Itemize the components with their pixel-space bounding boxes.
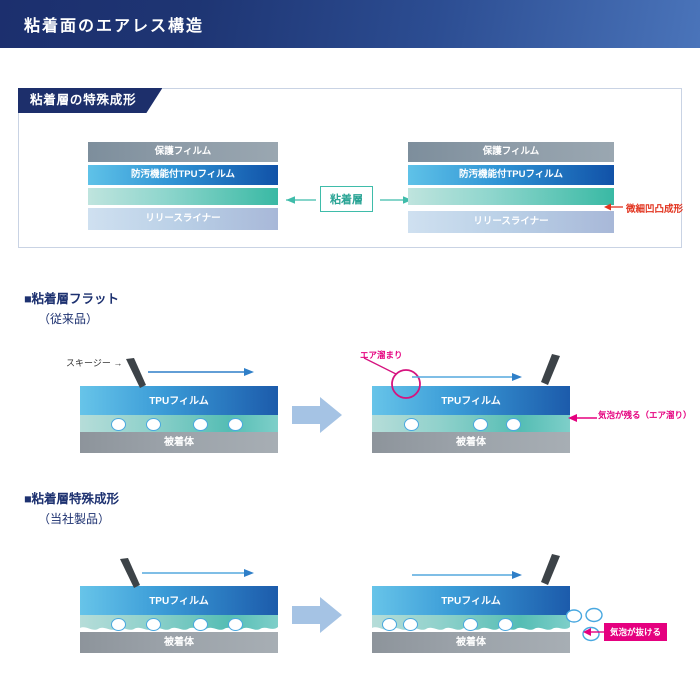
micro-texture-wave (80, 624, 278, 632)
air-bubble (193, 418, 208, 431)
section-flat-heading: ■粘着層フラット (24, 288, 119, 307)
right-layer-stack: 保護フィルム 防汚機能付TPUフィルム リリースライナー (408, 142, 614, 236)
section-flat-subheading: （従来品） (38, 310, 98, 327)
structure-panel-tab: 粘着層の特殊成形 (18, 88, 162, 113)
air-bubble (111, 418, 126, 431)
layer-adhesive-textured (408, 188, 614, 205)
textured-right-diagram: TPUフィルム 被着体 (372, 586, 570, 653)
flat-left-diagram: TPUフィルム 被着体 (80, 386, 278, 453)
layer-release-liner: リリースライナー (88, 208, 278, 230)
left-layer-stack: 保護フィルム 防汚機能付TPUフィルム リリースライナー (88, 142, 278, 233)
layer-protective-film: 保護フィルム (88, 142, 278, 162)
air-bubble (403, 618, 418, 631)
air-bubble (498, 618, 513, 631)
diagram-page: 粘着面のエアレス構造 粘着層の特殊成形 保護フィルム 防汚機能付TPUフィルム … (0, 0, 700, 700)
squeegee-icon (540, 354, 568, 388)
direction-arrow-icon (142, 568, 256, 578)
section-textured-heading: ■粘着層特殊成形 (24, 488, 119, 507)
squeegee-icon (124, 358, 150, 390)
tpu-film-layer: TPUフィルム (372, 586, 570, 615)
page-title: 粘着面のエアレス構造 (24, 12, 204, 36)
direction-arrow-icon (412, 570, 524, 580)
squeegee-icon (118, 558, 144, 590)
adhesive-layer-textured (80, 615, 278, 632)
adhesive-layer (372, 415, 570, 432)
air-bubble (193, 618, 208, 631)
squeegee-icon (540, 554, 568, 588)
adhesive-layer-callout: 粘着層 (320, 186, 373, 212)
air-bubble (463, 618, 478, 631)
air-bubble (404, 418, 419, 431)
substrate-layer: 被着体 (80, 432, 278, 453)
textured-left-diagram: TPUフィルム 被着体 (80, 586, 278, 653)
layer-tpu-film: 防汚機能付TPUフィルム (88, 165, 278, 185)
layer-protective-film: 保護フィルム (408, 142, 614, 162)
air-bubble (111, 618, 126, 631)
adhesive-layer (80, 415, 278, 432)
process-arrow-icon (292, 596, 344, 636)
bubble-escape-arrow-icon (583, 627, 605, 637)
bubble-remain-arrow-icon (568, 413, 598, 423)
substrate-layer: 被着体 (372, 632, 570, 653)
air-pocket-label: エア溜まり (360, 349, 403, 361)
air-bubble (146, 618, 161, 631)
bubble-remain-label: 気泡が残る（エア溜り） (598, 409, 692, 421)
process-arrow-icon (292, 396, 344, 436)
layer-tpu-film: 防汚機能付TPUフィルム (408, 165, 614, 185)
adhesive-layer-textured (372, 615, 570, 632)
micro-texture-arrow-icon (604, 202, 624, 212)
bubble-escape-label: 気泡が抜ける (604, 623, 667, 641)
arrow-left-to-stack (286, 194, 320, 206)
layer-adhesive-flat (88, 188, 278, 205)
page-banner: 粘着面のエアレス構造 (0, 0, 700, 48)
squeegee-label: スキージー → (66, 356, 122, 369)
air-bubble (382, 618, 397, 631)
direction-arrow-icon (412, 372, 524, 382)
air-bubble (506, 418, 521, 431)
substrate-layer: 被着体 (80, 632, 278, 653)
micro-texture-annotation: 微細凹凸成形 (626, 201, 683, 215)
air-bubble (473, 418, 488, 431)
tpu-film-layer: TPUフィルム (80, 386, 278, 415)
direction-arrow-icon (148, 367, 256, 377)
section-textured-subheading: （当社製品） (38, 510, 110, 527)
air-bubble (146, 418, 161, 431)
air-bubble (228, 418, 243, 431)
tpu-film-layer: TPUフィルム (80, 586, 278, 615)
substrate-layer: 被着体 (372, 432, 570, 453)
air-bubble (228, 618, 243, 631)
layer-release-liner: リリースライナー (408, 211, 614, 233)
